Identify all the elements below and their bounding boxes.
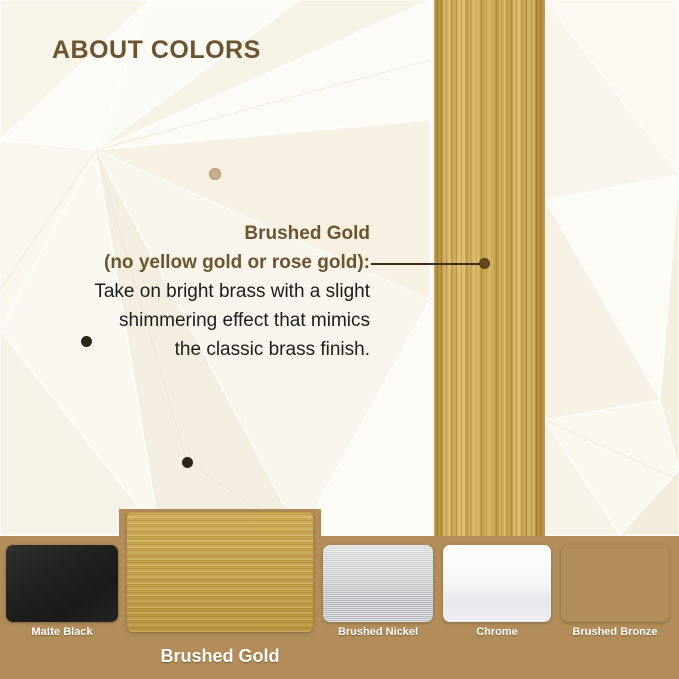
swatch-matte-black[interactable] <box>6 545 118 622</box>
swatch-label-matte-black: Matte Black <box>6 626 118 638</box>
swatch-brushed-nickel[interactable] <box>323 545 433 622</box>
page-title: ABOUT COLORS <box>52 36 261 65</box>
annotation-line-1: Brushed Gold <box>40 219 370 248</box>
annotation-line-4: shimmering effect that mimics <box>40 306 370 335</box>
product-infographic: ABOUT COLORS Brushed Gold (no yellow gol… <box>0 0 679 679</box>
swatch-label-brushed-bronze: Brushed Bronze <box>561 626 669 638</box>
annotation-line-3: Take on bright brass with a slight <box>40 277 370 306</box>
callout-target-dot <box>479 258 490 269</box>
swatch-label-brushed-gold: Brushed Gold <box>127 646 313 667</box>
dark-dot-decoration-lower <box>182 457 193 468</box>
swatch-brushed-bronze[interactable] <box>561 545 669 622</box>
annotation-line-2: (no yellow gold or rose gold): <box>40 248 370 277</box>
swatch-label-brushed-nickel: Brushed Nickel <box>323 626 433 638</box>
swatch-label-chrome: Chrome <box>443 626 551 638</box>
tan-dot-decoration <box>209 168 221 180</box>
brushed-gold-column <box>434 0 545 537</box>
dark-dot-decoration-upper <box>81 336 92 347</box>
swatch-brushed-gold[interactable] <box>127 512 313 632</box>
callout-leader-line <box>371 263 483 265</box>
swatch-chrome[interactable] <box>443 545 551 622</box>
